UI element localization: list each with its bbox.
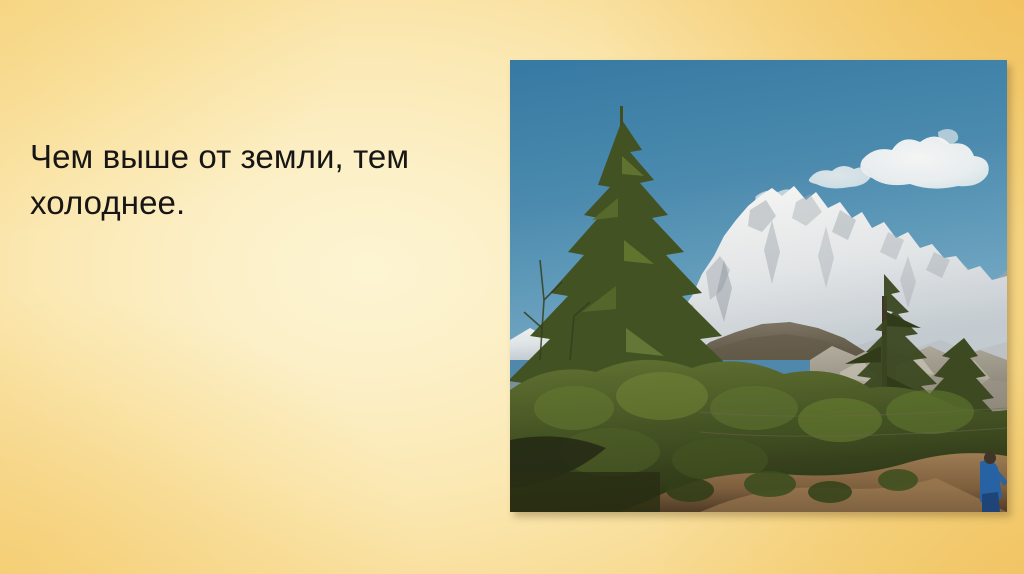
background-corner-glow-bottom-left [0, 294, 420, 574]
slide-title-block: Чем выше от земли, тем холоднее. [30, 134, 482, 225]
mountain-photo [510, 60, 1007, 512]
slide-title: Чем выше от земли, тем холоднее. [30, 134, 482, 225]
mountain-scene-svg [510, 60, 1007, 512]
mountain-photo-canvas [510, 60, 1007, 512]
slide-canvas: Чем выше от земли, тем холоднее. [0, 0, 1024, 574]
